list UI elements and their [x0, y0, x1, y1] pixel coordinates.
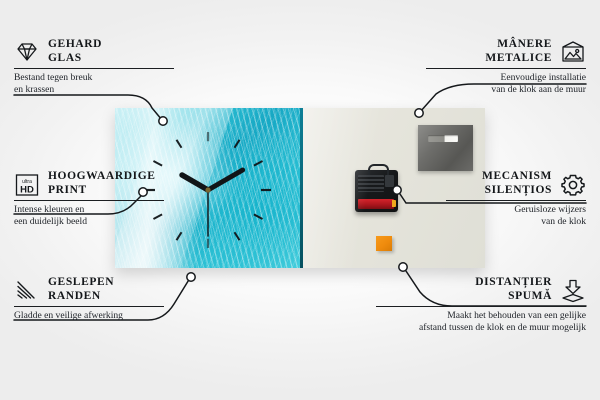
clock-tick — [235, 140, 240, 148]
callout-title-line1: GEHARD — [48, 38, 102, 52]
spacer-depth-icon — [560, 279, 586, 301]
callout-head: ultra HD HOOGWAARDIGE PRINT — [14, 170, 164, 197]
callout-title-line2: SILENȚIOS — [482, 184, 552, 198]
callout-rule — [446, 200, 586, 201]
battery — [358, 199, 394, 209]
clock-tick — [153, 161, 162, 166]
clock-tick — [235, 232, 240, 240]
callout-title-line2: METALICE — [485, 52, 552, 66]
callout-rule — [426, 68, 586, 69]
battery-terminal — [392, 200, 396, 207]
callout-sub-line2: van de klok — [446, 216, 586, 228]
callout-sub-line2: afstand tussen de klok en de muur mogeli… — [376, 322, 586, 334]
callout-rule — [376, 306, 586, 307]
callout-title-line1: MÂNERE — [485, 38, 552, 52]
callout-gehard-glas[interactable]: GEHARD GLAS Bestand tegen breuk en krass… — [14, 38, 174, 95]
foam-spacer — [376, 236, 392, 251]
callout-distantier-spuma[interactable]: DISTANȚIER SPUMĂ Maakt het behouden van … — [376, 276, 586, 333]
product-image — [115, 108, 485, 268]
clock-hands — [182, 170, 243, 236]
clock-tick — [254, 161, 263, 166]
callout-head: DISTANȚIER SPUMĂ — [376, 276, 586, 303]
clock-mechanism-box — [355, 170, 398, 212]
metal-hanger-plate — [418, 125, 473, 171]
callout-sub-line1: Gladde en veilige afwerking — [14, 310, 164, 322]
clock-center-pin — [205, 187, 210, 192]
callout-title-line2: SPUMĂ — [475, 290, 552, 304]
diamond-icon — [14, 41, 40, 63]
clock-tick — [177, 140, 182, 148]
callout-sub-line1: Maakt het behouden van een gelijke — [376, 310, 586, 322]
callout-sub-line2: en krassen — [14, 84, 174, 96]
callout-title-line2: PRINT — [48, 184, 156, 198]
callout-title-line1: DISTANȚIER — [475, 276, 552, 290]
callout-title-line1: MECANISM — [482, 170, 552, 184]
ultra-hd-icon: ultra HD — [14, 173, 40, 195]
callout-manere-metalice[interactable]: MÂNERE METALICE Eenvoudige installatie v… — [426, 38, 586, 95]
callout-sub-line1: Eenvoudige installatie — [426, 72, 586, 84]
mechanism-hanging-loop — [368, 164, 389, 175]
callout-geslepen-randen[interactable]: GESLEPEN RANDEN Gladde en veilige afwerk… — [14, 276, 164, 322]
callout-title-line2: RANDEN — [48, 290, 114, 304]
callout-sub-line2: een duidelijk beeld — [14, 216, 164, 228]
callout-head: MÂNERE METALICE — [426, 38, 586, 65]
callout-rule — [14, 306, 164, 307]
callout-sub-line1: Intense kleuren en — [14, 204, 164, 216]
connector-dot-geslepen-randen — [187, 273, 195, 281]
clock-tick — [254, 214, 263, 219]
picture-frame-icon — [560, 41, 586, 63]
clock-hand — [182, 175, 208, 190]
clock-hand — [208, 170, 243, 190]
callout-head: MECANISM SILENȚIOS — [446, 170, 586, 197]
callout-head: GEHARD GLAS — [14, 38, 174, 65]
callout-head: GESLEPEN RANDEN — [14, 276, 164, 303]
callout-title-line1: GESLEPEN — [48, 276, 114, 290]
bevelled-edges-icon — [14, 279, 40, 301]
mechanism-ridges — [358, 175, 384, 192]
infographic-stage: GEHARD GLAS Bestand tegen breuk en krass… — [0, 0, 600, 400]
hanger-slot — [428, 135, 458, 142]
callout-sub-line2: van de klok aan de muur — [426, 84, 586, 96]
mechanism-dial-knob — [385, 175, 394, 187]
callout-sub-line1: Geruisloze wijzers — [446, 204, 586, 216]
clock-tick — [177, 232, 182, 240]
svg-text:HD: HD — [20, 184, 34, 195]
callout-title-line1: HOOGWAARDIGE — [48, 170, 156, 184]
callout-rule — [14, 200, 164, 201]
callout-hoogwaardige-print[interactable]: ultra HD HOOGWAARDIGE PRINT Intense kleu… — [14, 170, 164, 227]
callout-title-line2: GLAS — [48, 52, 102, 66]
callout-rule — [14, 68, 174, 69]
gear-icon — [560, 173, 586, 195]
callout-mecanism-silentios[interactable]: MECANISM SILENȚIOS Geruisloze wijzers va… — [446, 170, 586, 227]
callout-sub-line1: Bestand tegen breuk — [14, 72, 174, 84]
